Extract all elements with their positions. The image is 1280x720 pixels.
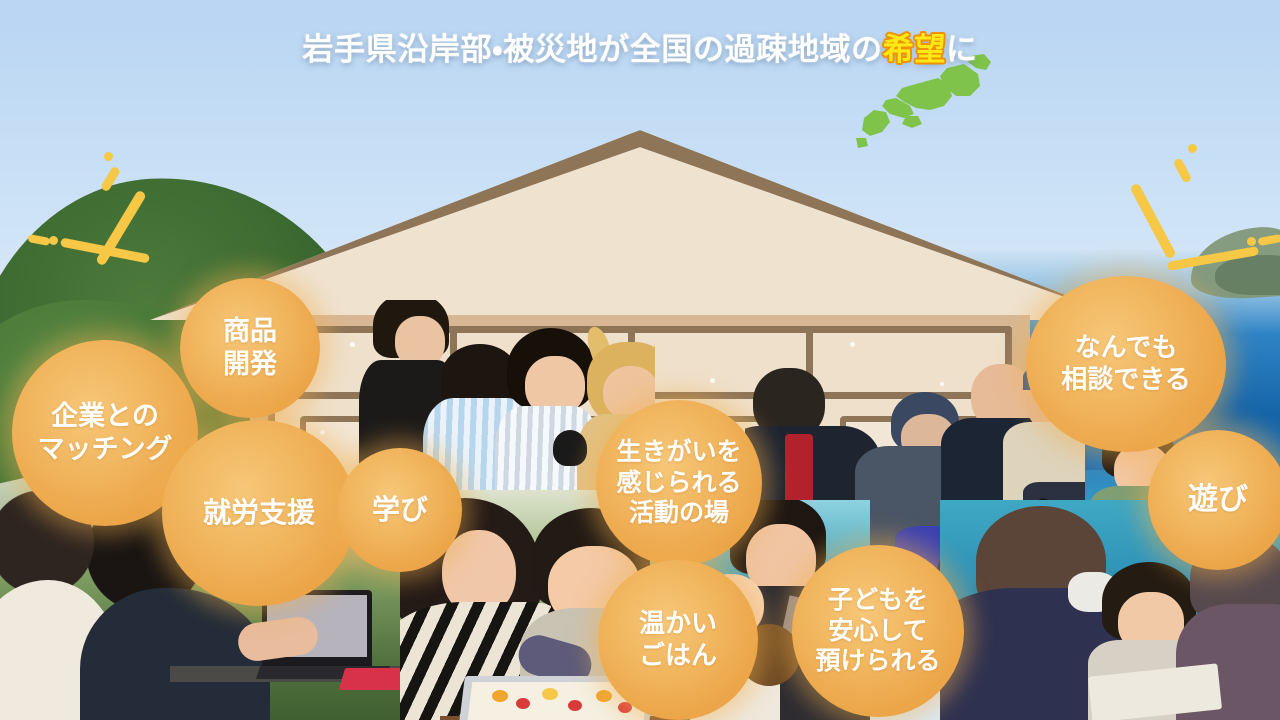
- bubble-learning[interactable]: 学び: [338, 448, 462, 572]
- bubble-consultation-label: なんでも相談できる: [1055, 332, 1196, 395]
- subtitle-post: に: [946, 32, 978, 67]
- bubble-childcare[interactable]: 子どもを安心して預けられる: [792, 545, 964, 717]
- house-roof: [150, 130, 1130, 320]
- bubble-play-label: 遊び: [1182, 482, 1254, 519]
- bubble-childcare-label: 子どもを安心して預けられる: [809, 585, 946, 677]
- subtitle-highlight: 希望: [883, 32, 946, 67]
- bubble-learning-label: 学び: [366, 493, 434, 527]
- bubble-employment-support-label: 就労支援: [197, 496, 321, 530]
- bubble-sense-of-purpose[interactable]: 生きがいを感じられる活動の場: [596, 400, 762, 566]
- poster-canvas: 岩手県沿岸部・被災地が全国の過疎地域の希望に 企業とのマッチング 商品開発 就労…: [0, 0, 1280, 720]
- subtitle-pre: 岩手県沿岸部・被災地が全国の過疎地域の: [302, 32, 882, 67]
- bubble-warm-meal[interactable]: 温かいごはん: [598, 560, 758, 720]
- subtitle: 岩手県沿岸部・被災地が全国の過疎地域の希望に: [0, 24, 1280, 69]
- bubble-matching-label: 企業とのマッチング: [32, 400, 179, 466]
- bubble-consultation[interactable]: なんでも相談できる: [1026, 276, 1226, 452]
- bubble-warm-meal-label: 温かいごはん: [633, 608, 723, 671]
- bubble-sense-of-purpose-label: 生きがいを感じられる活動の場: [610, 437, 747, 529]
- bubble-product-development-label: 商品開発: [217, 315, 283, 381]
- bubble-play[interactable]: 遊び: [1148, 430, 1280, 570]
- bubble-product-development[interactable]: 商品開発: [180, 278, 320, 418]
- bubble-employment-support[interactable]: 就労支援: [162, 420, 356, 606]
